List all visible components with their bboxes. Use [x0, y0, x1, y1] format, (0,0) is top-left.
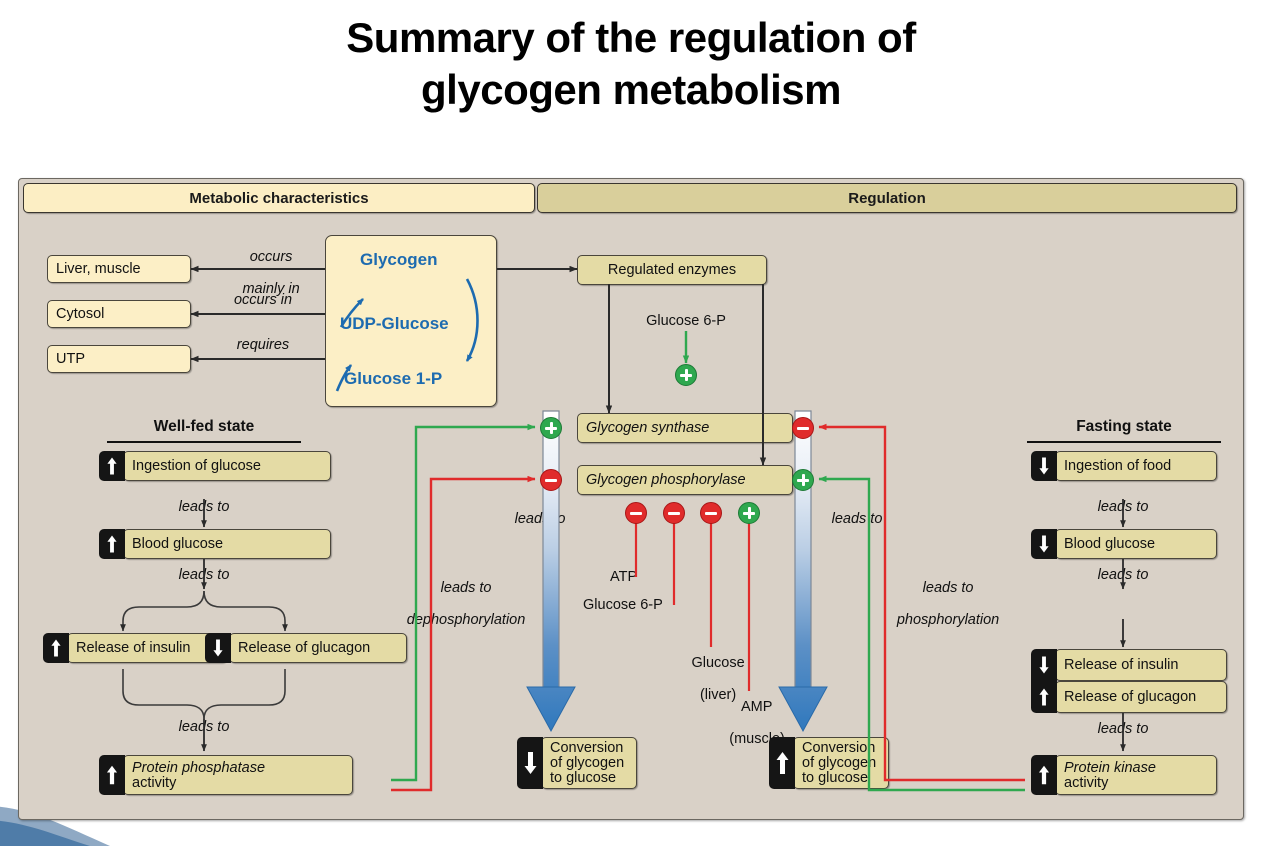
wellfed-leads-to-1: leads to	[159, 499, 249, 515]
chip-up-conversion-right	[769, 737, 795, 789]
badge-plus-synthase-left	[540, 417, 562, 439]
fasting-heading-rule	[1027, 441, 1221, 443]
badge-plus-glucose-6-p	[675, 364, 697, 386]
diagram-panel: Metabolic characteristics Regulation	[18, 178, 1244, 820]
page-title: Summary of the regulation of glycogen me…	[0, 12, 1262, 116]
cycle-label-udp-glucose: UDP-Glucose	[340, 314, 449, 334]
badge-plus-phosphorylase-right	[792, 469, 814, 491]
badge-minus-glucose-liver	[700, 502, 722, 524]
activator-label-glucose-6-p: Glucose 6-P	[626, 313, 746, 329]
wellfed-pair-release-of-glucagon[interactable]: Release of glucagon	[229, 633, 407, 663]
chip-down-blood-glucose	[1031, 529, 1057, 559]
fasting-leads-to-1: leads to	[1078, 499, 1168, 515]
chip-up-blood-glucose	[99, 529, 125, 559]
arrow-up-icon	[106, 534, 118, 554]
modulator-label-atp: ATP	[610, 569, 637, 585]
connector-label-requires: requires	[205, 337, 321, 353]
wellfed-final-protein-phosphatase[interactable]: Protein phosphatase activity	[123, 755, 353, 795]
chip-up-ingestion-of-glucose	[99, 451, 125, 481]
arrow-down-icon	[1038, 456, 1050, 476]
fasting-final-protein-kinase[interactable]: Protein kinase activity	[1055, 755, 1217, 795]
cycle-label-glycogen: Glycogen	[360, 250, 437, 270]
wellfed-step-blood-glucose[interactable]: Blood glucose	[123, 529, 331, 559]
fasting-step-blood-glucose[interactable]: Blood glucose	[1055, 529, 1217, 559]
badge-minus-atp	[625, 502, 647, 524]
fasting-leads-to-2: leads to	[1078, 567, 1168, 583]
fasting-pair-release-of-insulin[interactable]: Release of insulin	[1055, 649, 1227, 681]
arrow-down-icon	[1038, 655, 1050, 675]
fasting-leads-to-3: leads to	[1078, 721, 1168, 737]
badge-minus-phosphorylase-left	[540, 469, 562, 491]
chip-down-release-of-glucagon	[205, 633, 231, 663]
arrow-up-icon	[1038, 687, 1050, 707]
metabolic-box-utp[interactable]: UTP	[47, 345, 191, 373]
arrow-up-icon	[776, 750, 789, 776]
chip-up-release-of-insulin	[43, 633, 69, 663]
chip-up-protein-phosphatase	[99, 755, 125, 795]
badge-plus-amp-muscle	[738, 502, 760, 524]
outcome-box-conversion-decrease[interactable]: Conversion of glycogen to glucose	[541, 737, 637, 789]
arrow-up-icon	[50, 638, 62, 658]
regulated-enzymes-box[interactable]: Regulated enzymes	[577, 255, 767, 285]
arrow-down-icon	[524, 750, 537, 776]
metabolic-box-cytosol[interactable]: Cytosol	[47, 300, 191, 328]
leads-to-label-left-pipe: leads to	[495, 511, 585, 527]
wellfed-leads-to-3: leads to	[159, 719, 249, 735]
path-label-phosphorylation: leads to phosphorylation	[865, 564, 1015, 644]
fasting-pair-release-of-glucagon[interactable]: Release of glucagon	[1055, 681, 1227, 713]
chip-up-release-of-glucagon	[1031, 681, 1057, 713]
metabolic-box-liver-muscle[interactable]: Liver, muscle	[47, 255, 191, 283]
arrow-down-icon	[212, 638, 224, 658]
arrow-up-icon	[106, 764, 118, 786]
outcome-box-conversion-increase[interactable]: Conversion of glycogen to glucose	[793, 737, 889, 789]
chip-up-protein-kinase	[1031, 755, 1057, 795]
modulator-label-glucose-6-p: Glucose 6-P	[583, 597, 663, 613]
arrow-down-icon	[1038, 534, 1050, 554]
fasting-heading: Fasting state	[1027, 419, 1221, 435]
header-metabolic-characteristics: Metabolic characteristics	[23, 183, 535, 213]
wellfed-step-ingestion-of-glucose[interactable]: Ingestion of glucose	[123, 451, 331, 481]
chip-down-release-of-insulin	[1031, 649, 1057, 681]
chip-down-ingestion-of-food	[1031, 451, 1057, 481]
title-line-1: Summary of the regulation of	[0, 12, 1262, 64]
fasting-step-ingestion-of-food[interactable]: Ingestion of food	[1055, 451, 1217, 481]
badge-minus-glucose-6-p	[663, 502, 685, 524]
title-line-2: glycogen metabolism	[0, 64, 1262, 116]
enzyme-box-glycogen-phosphorylase[interactable]: Glycogen phosphorylase	[577, 465, 793, 495]
pipe-arrow-left	[533, 411, 569, 724]
arrow-up-icon	[1038, 764, 1050, 786]
path-label-dephosphorylation: leads to dephosphorylation	[383, 564, 533, 644]
wellfed-leads-to-2: leads to	[159, 567, 249, 583]
badge-minus-synthase-right	[792, 417, 814, 439]
chip-down-conversion-left	[517, 737, 543, 789]
header-regulation: Regulation	[537, 183, 1237, 213]
wellfed-heading-rule	[107, 441, 301, 443]
enzyme-box-glycogen-synthase[interactable]: Glycogen synthase	[577, 413, 793, 443]
leads-to-label-right-pipe: leads to	[812, 511, 902, 527]
wellfed-heading: Well-fed state	[107, 419, 301, 435]
arrow-up-icon	[106, 456, 118, 476]
glycogen-cycle-box: Glycogen UDP-Glucose Glucose 1-P	[325, 235, 497, 407]
cycle-label-glucose-1-p: Glucose 1-P	[344, 369, 442, 389]
pipe-arrow-right	[785, 411, 821, 724]
connector-label-occurs-in: occurs in	[205, 292, 321, 308]
wellfed-pair-release-of-insulin[interactable]: Release of insulin	[67, 633, 227, 663]
